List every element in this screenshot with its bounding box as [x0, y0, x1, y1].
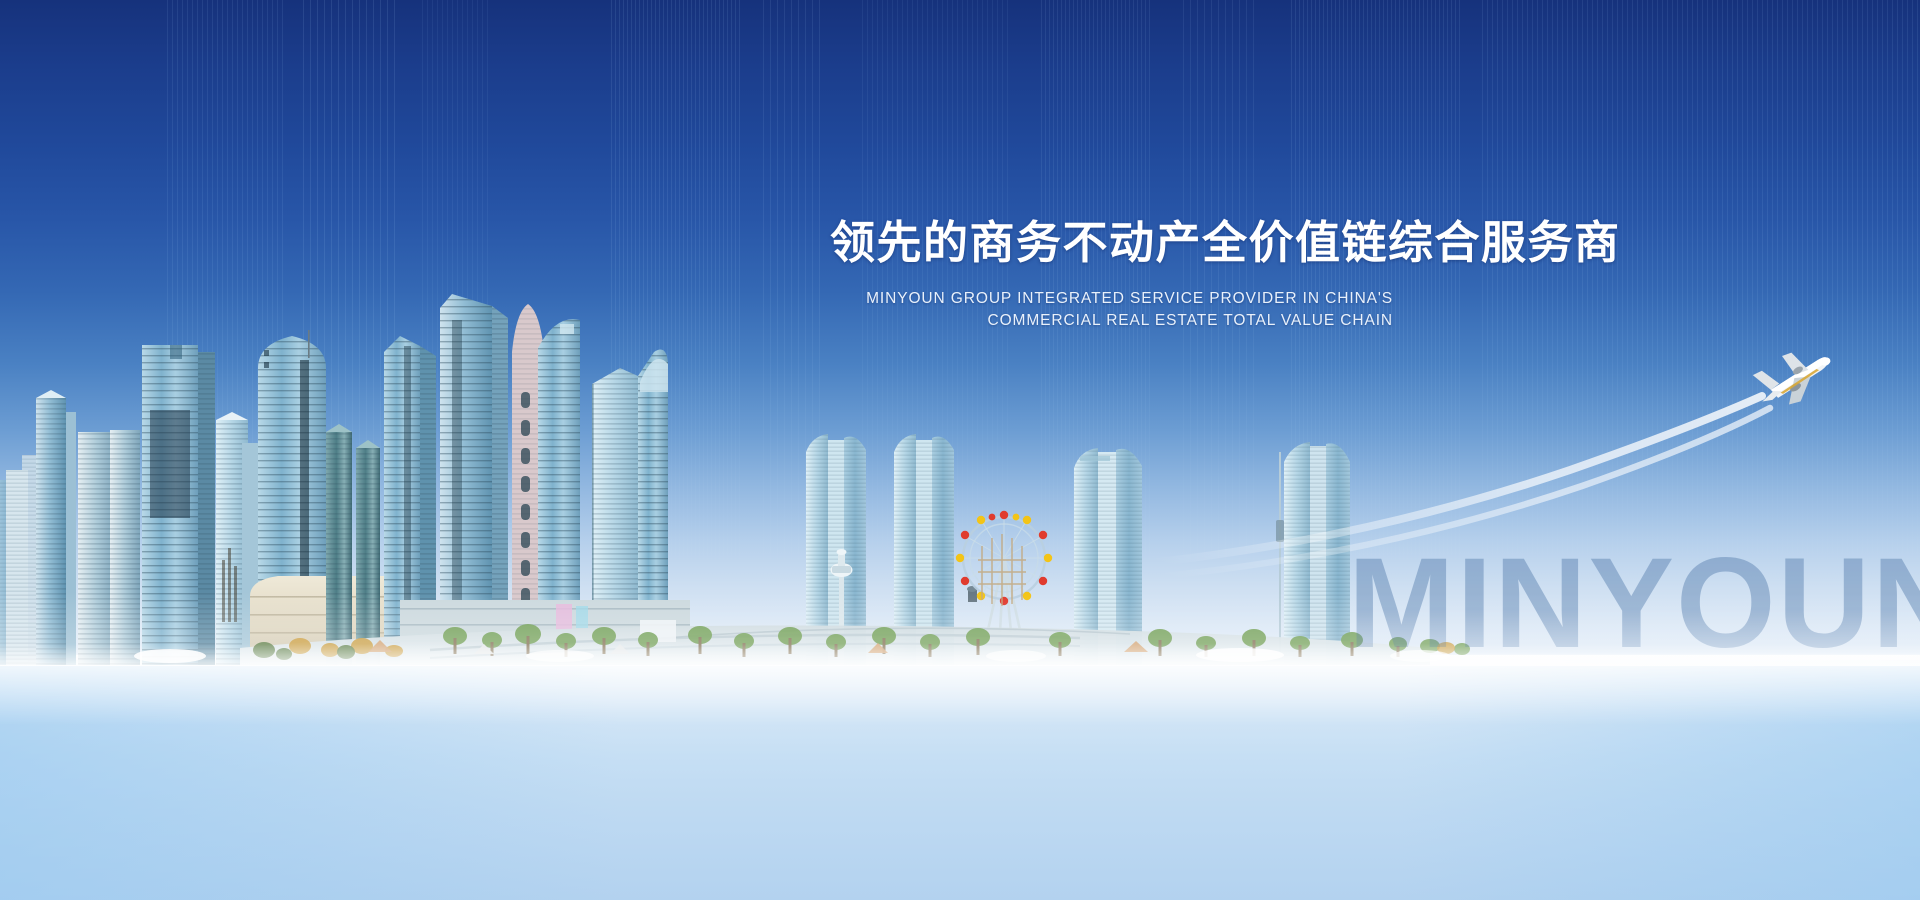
- subtitle-line-2: COMMERCIAL REAL ESTATE TOTAL VALUE CHAIN: [866, 310, 1393, 332]
- banner-hero: MINYOUN: [0, 0, 1920, 900]
- page-subtitle: MINYOUN GROUP INTEGRATED SERVICE PROVIDE…: [866, 288, 1393, 333]
- water-tint-left: [0, 660, 620, 900]
- page-title: 领先的商务不动产全价值链综合服务商: [830, 218, 1621, 268]
- airplane-with-contrail: [1150, 350, 1920, 590]
- subtitle-line-1: MINYOUN GROUP INTEGRATED SERVICE PROVIDE…: [866, 288, 1393, 310]
- water-tint-right: [1400, 660, 1920, 900]
